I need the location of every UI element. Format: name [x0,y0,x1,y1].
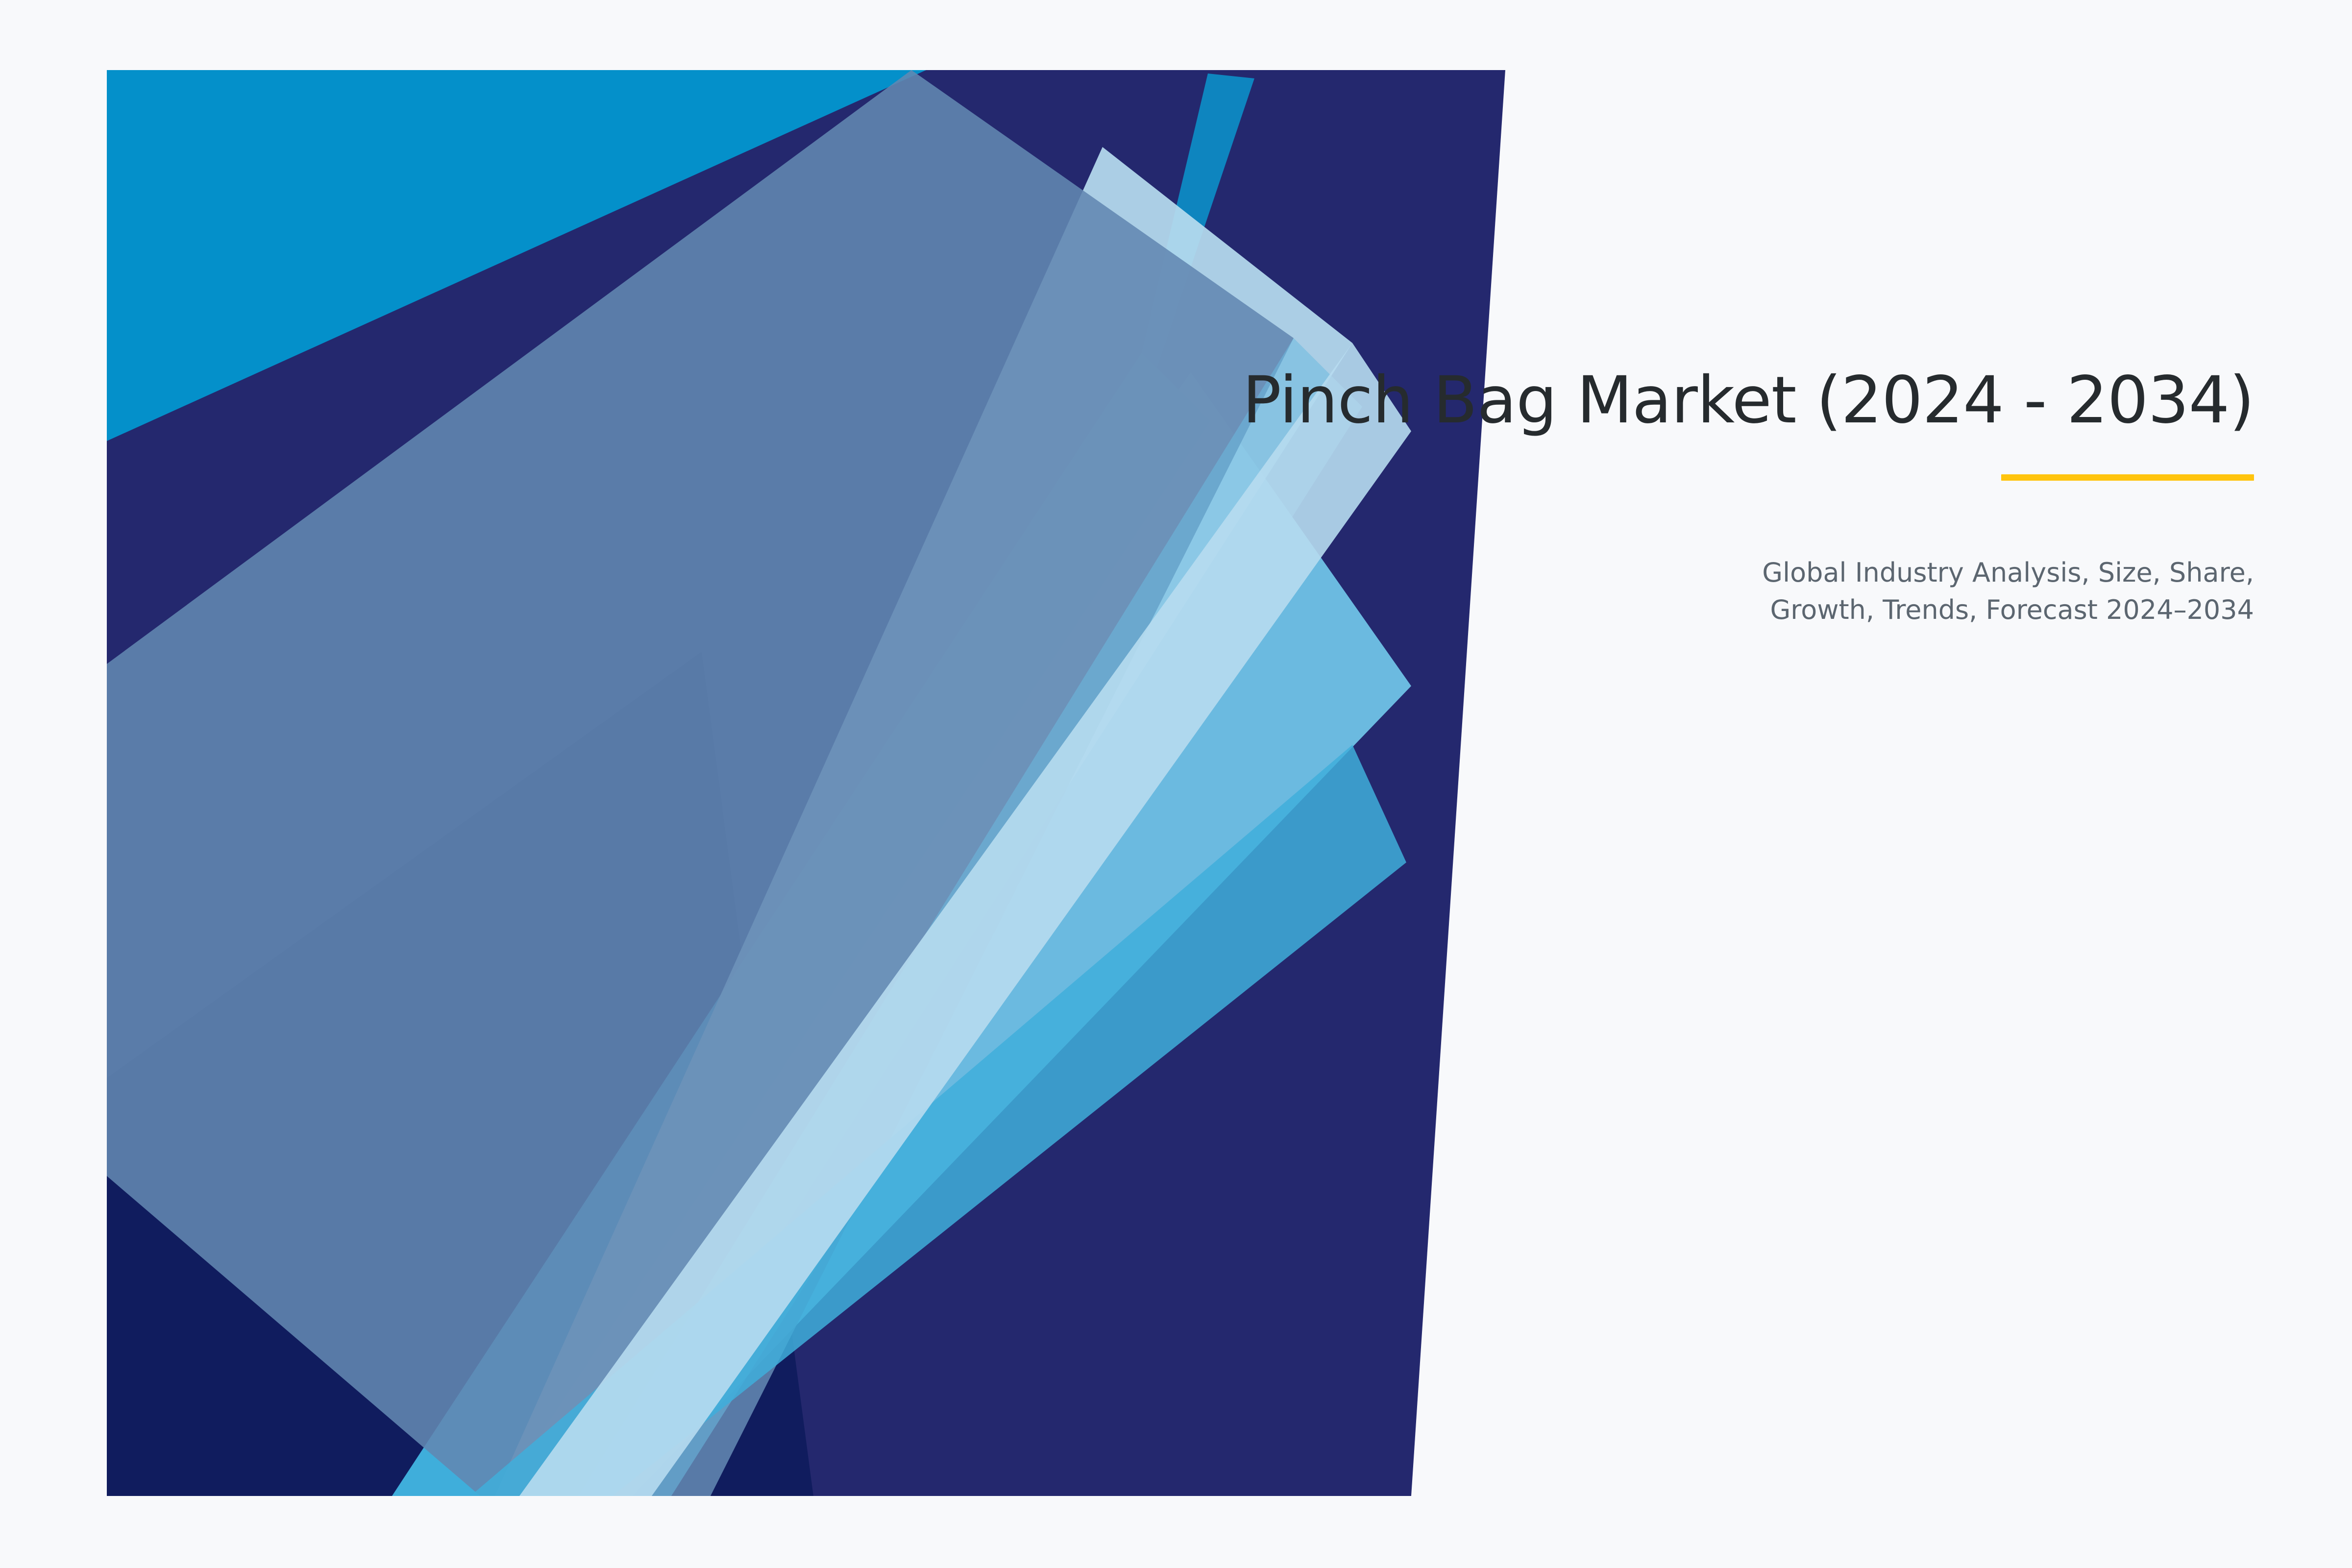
gold-accent-rule [2001,474,2254,481]
page-subtitle: Global Industry Analysis, Size, Share, G… [980,554,2254,629]
cover-slide: Pinch Bag Market (2024 - 2034) Global In… [0,0,2352,1568]
shape-mid-blue-tail [470,745,1406,1496]
shape-pale-blue-overlay [495,147,1352,1496]
page-title: Pinch Bag Market (2024 - 2034) [980,363,2254,439]
shape-slate-blue-overlay [107,70,1294,1496]
accent-rule-wrapper [980,474,2254,481]
shape-deep-navy-spike [107,652,702,1496]
title-block: Pinch Bag Market (2024 - 2034) Global In… [980,363,2254,629]
shape-deep-navy-arrow [107,652,813,1496]
shape-cyan-field [107,70,926,563]
abstract-geometric-graphic [0,0,2352,1568]
shape-navy-left [107,70,1505,1496]
shape-navy-top-right [926,70,1505,392]
